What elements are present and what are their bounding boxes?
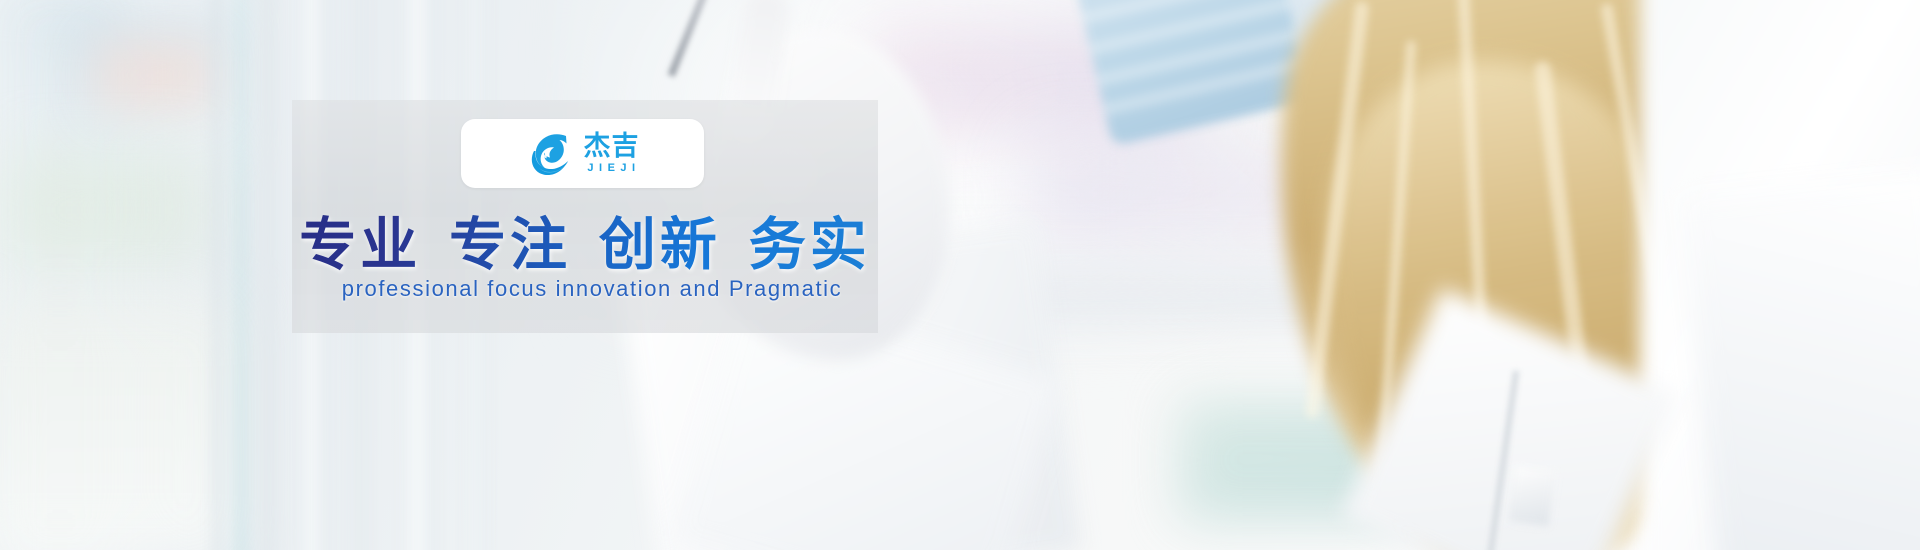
- hero-headline: 专业 专注 创新 务实: [292, 199, 878, 281]
- headline-word-2: 专注: [447, 212, 573, 278]
- photo-blur-left-floor: [0, 300, 240, 550]
- photo-lab-coat-right-fold: [1679, 168, 1920, 550]
- photo-blur-green-spot: [0, 150, 210, 270]
- photo-blur-warm-spot: [95, 40, 215, 110]
- headline-word-1: 专业: [297, 212, 423, 278]
- background-photo: [0, 0, 1920, 550]
- jieji-swoosh-icon: [524, 129, 574, 179]
- logo-pinyin: JIEJI: [582, 163, 640, 174]
- hero-banner: 杰吉 JIEJI 专业 专注 创新 务实 professional focus …: [0, 0, 1920, 550]
- logo-wordmark: 杰吉 JIEJI: [582, 133, 640, 174]
- photo-teal-rail: [236, 0, 246, 550]
- photo-rail-6: [214, 0, 224, 550]
- logo-chinese-name: 杰吉: [584, 133, 640, 160]
- photo-rail-1: [258, 0, 274, 550]
- brand-logo-card[interactable]: 杰吉 JIEJI: [461, 119, 704, 188]
- hero-tagline: professional focus innovation and Pragma…: [292, 276, 892, 302]
- photo-id-badge: [1509, 466, 1556, 526]
- headline-word-4: 务实: [747, 212, 873, 278]
- headline-word-3: 创新: [597, 212, 723, 278]
